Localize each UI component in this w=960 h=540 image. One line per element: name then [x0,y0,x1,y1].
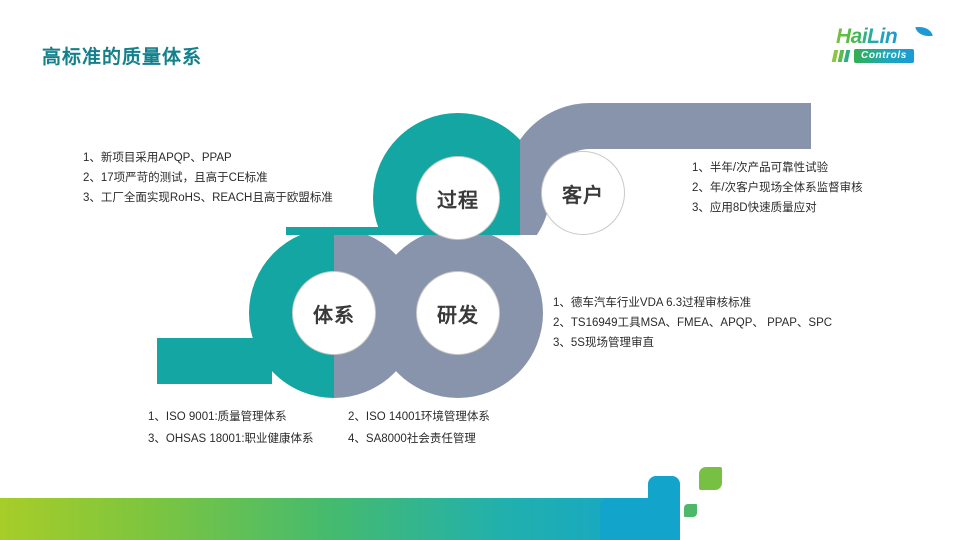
text-block-top-right: 1、半年/次产品可靠性试验 2、年/次客户现场全体系监督审核 3、应用8D快速质… [692,158,863,218]
footer-square-small [684,504,697,517]
list-item: 3、OHSAS 18001:职业健康体系 [148,428,348,450]
list-item: 3、应用8D快速质量应对 [692,198,863,218]
table-row: 1、ISO 9001:质量管理体系 2、ISO 14001环境管理体系 [148,406,548,428]
list-item: 2、TS16949工具MSA、FMEA、APQP、 PPAP、SPC [553,313,832,333]
node-system-label: 体系 [313,299,355,328]
list-item: 1、半年/次产品可靠性试验 [692,158,863,178]
node-system[interactable]: 体系 [292,271,376,355]
list-item: 4、SA8000社会责任管理 [348,428,548,450]
node-rd-label: 研发 [437,299,479,328]
footer-gradient-bar [0,498,680,540]
list-item: 2、ISO 14001环境管理体系 [348,406,548,428]
list-item: 3、工厂全面实现RoHS、REACH且高于欧盟标准 [83,188,333,208]
list-item: 2、年/次客户现场全体系监督审核 [692,178,863,198]
node-customer-label: 客户 [562,179,604,208]
table-row: 3、OHSAS 18001:职业健康体系 4、SA8000社会责任管理 [148,428,548,450]
list-item: 3、5S现场管理审直 [553,333,832,353]
text-block-bottom: 1、ISO 9001:质量管理体系 2、ISO 14001环境管理体系 3、OH… [148,406,548,450]
text-block-top-left: 1、新项目采用APQP、PPAP 2、17项严苛的测试，且高于CE标准 3、工厂… [83,148,333,208]
node-process[interactable]: 过程 [416,156,500,240]
list-item: 2、17项严苛的测试，且高于CE标准 [83,168,333,188]
ribbon-path [0,0,960,470]
list-item: 1、德车汽车行业VDA 6.3过程审核标准 [553,293,832,313]
footer-step-riser [648,476,680,516]
list-item: 1、ISO 9001:质量管理体系 [148,406,348,428]
node-process-label: 过程 [437,184,479,213]
list-item: 1、新项目采用APQP、PPAP [83,148,333,168]
node-rd[interactable]: 研发 [416,271,500,355]
footer-square-large [699,467,722,490]
node-customer[interactable]: 客户 [541,151,625,235]
text-block-mid-right: 1、德车汽车行业VDA 6.3过程审核标准 2、TS16949工具MSA、FME… [553,293,832,353]
quality-system-diagram: 过程 客户 体系 研发 1、新项目采用APQP、PPAP 2、17项严苛的测试，… [0,0,960,470]
